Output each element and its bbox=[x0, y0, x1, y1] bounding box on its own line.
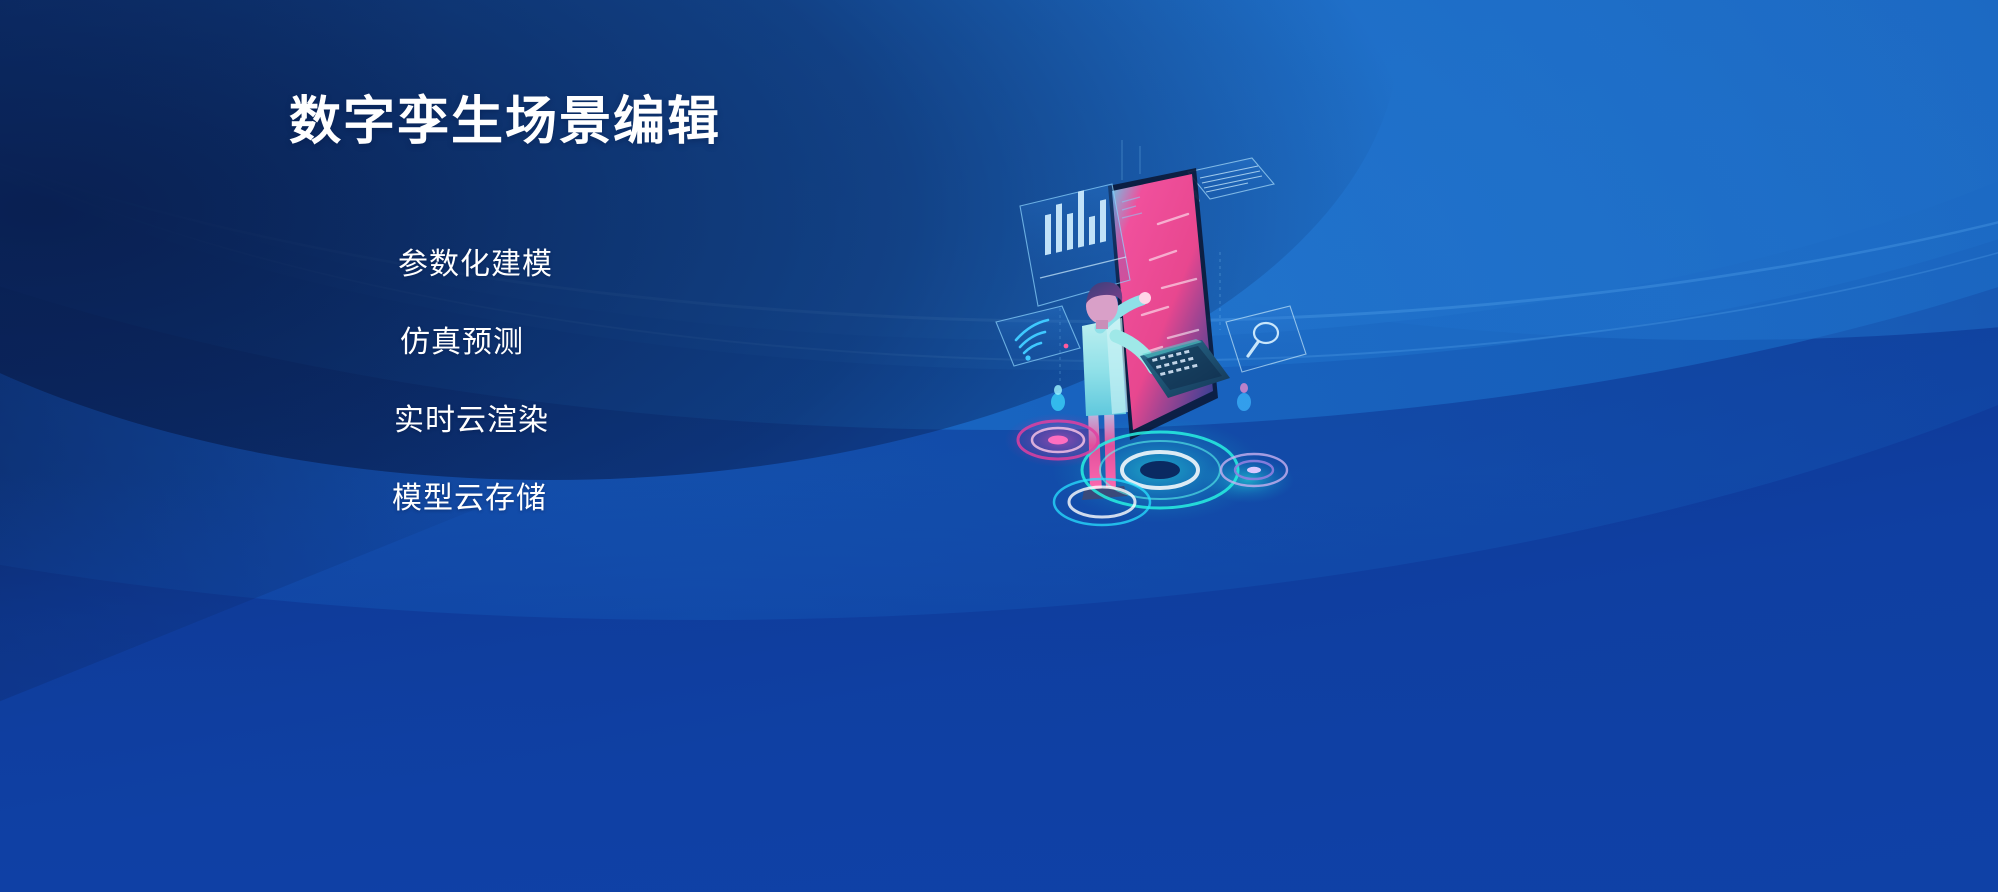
feature-item[interactable]: 参数化建模 bbox=[398, 226, 812, 304]
slide-title: 数字孪生场景编辑 bbox=[289, 96, 721, 151]
feature-item-label: 参数化建模 bbox=[398, 250, 553, 280]
feature-list: 参数化建模 仿真预测 实时云渲染 模型云存储 bbox=[392, 226, 812, 538]
feature-item-label: 实时云渲染 bbox=[394, 406, 549, 436]
feature-item[interactable]: 模型云存储 bbox=[392, 460, 812, 538]
slide-canvas: 数字孪生场景编辑 参数化建模 仿真预测 实时云渲染 模型云存储 bbox=[0, 0, 1998, 892]
document-panel bbox=[1188, 158, 1274, 202]
feature-item[interactable]: 仿真预测 bbox=[400, 304, 812, 382]
wifi-panel bbox=[996, 306, 1080, 366]
digital-twin-illustration bbox=[990, 140, 1310, 540]
feature-item-label: 模型云存储 bbox=[392, 484, 547, 514]
magnifier-panel bbox=[1226, 306, 1306, 372]
feature-item[interactable]: 实时云渲染 bbox=[394, 382, 812, 460]
feature-item-label: 仿真预测 bbox=[400, 328, 524, 358]
